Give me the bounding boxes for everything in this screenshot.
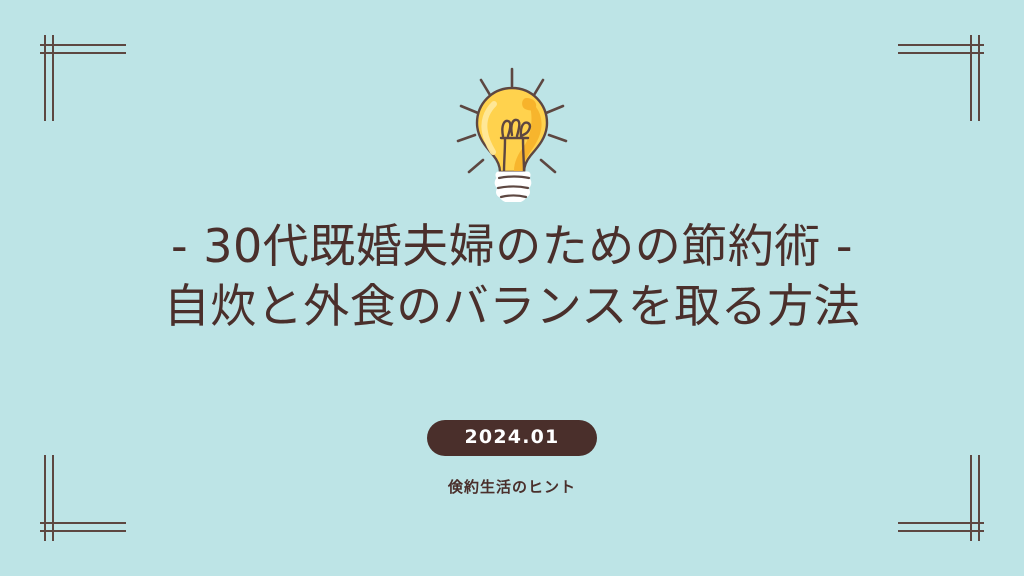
ornament-line <box>40 530 126 532</box>
ornament-line <box>44 35 46 121</box>
ornament-line <box>898 522 984 524</box>
ornament-line <box>898 530 984 532</box>
ornament-line <box>978 35 980 121</box>
title-line-2: 自炊と外食のバランスを取る方法 <box>0 276 1024 336</box>
tagline-row: 倹約生活のヒント <box>0 476 1024 497</box>
date-badge: 2024.01 <box>427 420 598 456</box>
ornament-line <box>52 35 54 121</box>
eyecatch-canvas: - 30代既婚夫婦のための節約術 - 自炊と外食のバランスを取る方法 2024.… <box>0 0 1024 576</box>
ornament-line <box>970 35 972 121</box>
title-line-1: - 30代既婚夫婦のための節約術 - <box>0 216 1024 276</box>
ornament-line <box>970 455 972 541</box>
bulb-base <box>495 172 531 202</box>
corner-bracket-top-right-icon <box>898 35 984 121</box>
ornament-line <box>44 455 46 541</box>
ornament-line <box>978 455 980 541</box>
ornament-line <box>898 52 984 54</box>
ornament-line <box>40 52 126 54</box>
ornament-line <box>898 44 984 46</box>
ornament-line <box>40 522 126 524</box>
ornament-line <box>40 44 126 46</box>
site-tagline: 倹約生活のヒント <box>448 478 576 496</box>
corner-bracket-bottom-left-icon <box>40 455 126 541</box>
lightbulb-icon <box>442 62 582 202</box>
ornament-line <box>52 455 54 541</box>
corner-bracket-top-left-icon <box>40 35 126 121</box>
date-badge-row: 2024.01 <box>0 420 1024 456</box>
page-title: - 30代既婚夫婦のための節約術 - 自炊と外食のバランスを取る方法 <box>0 216 1024 336</box>
corner-bracket-bottom-right-icon <box>898 455 984 541</box>
